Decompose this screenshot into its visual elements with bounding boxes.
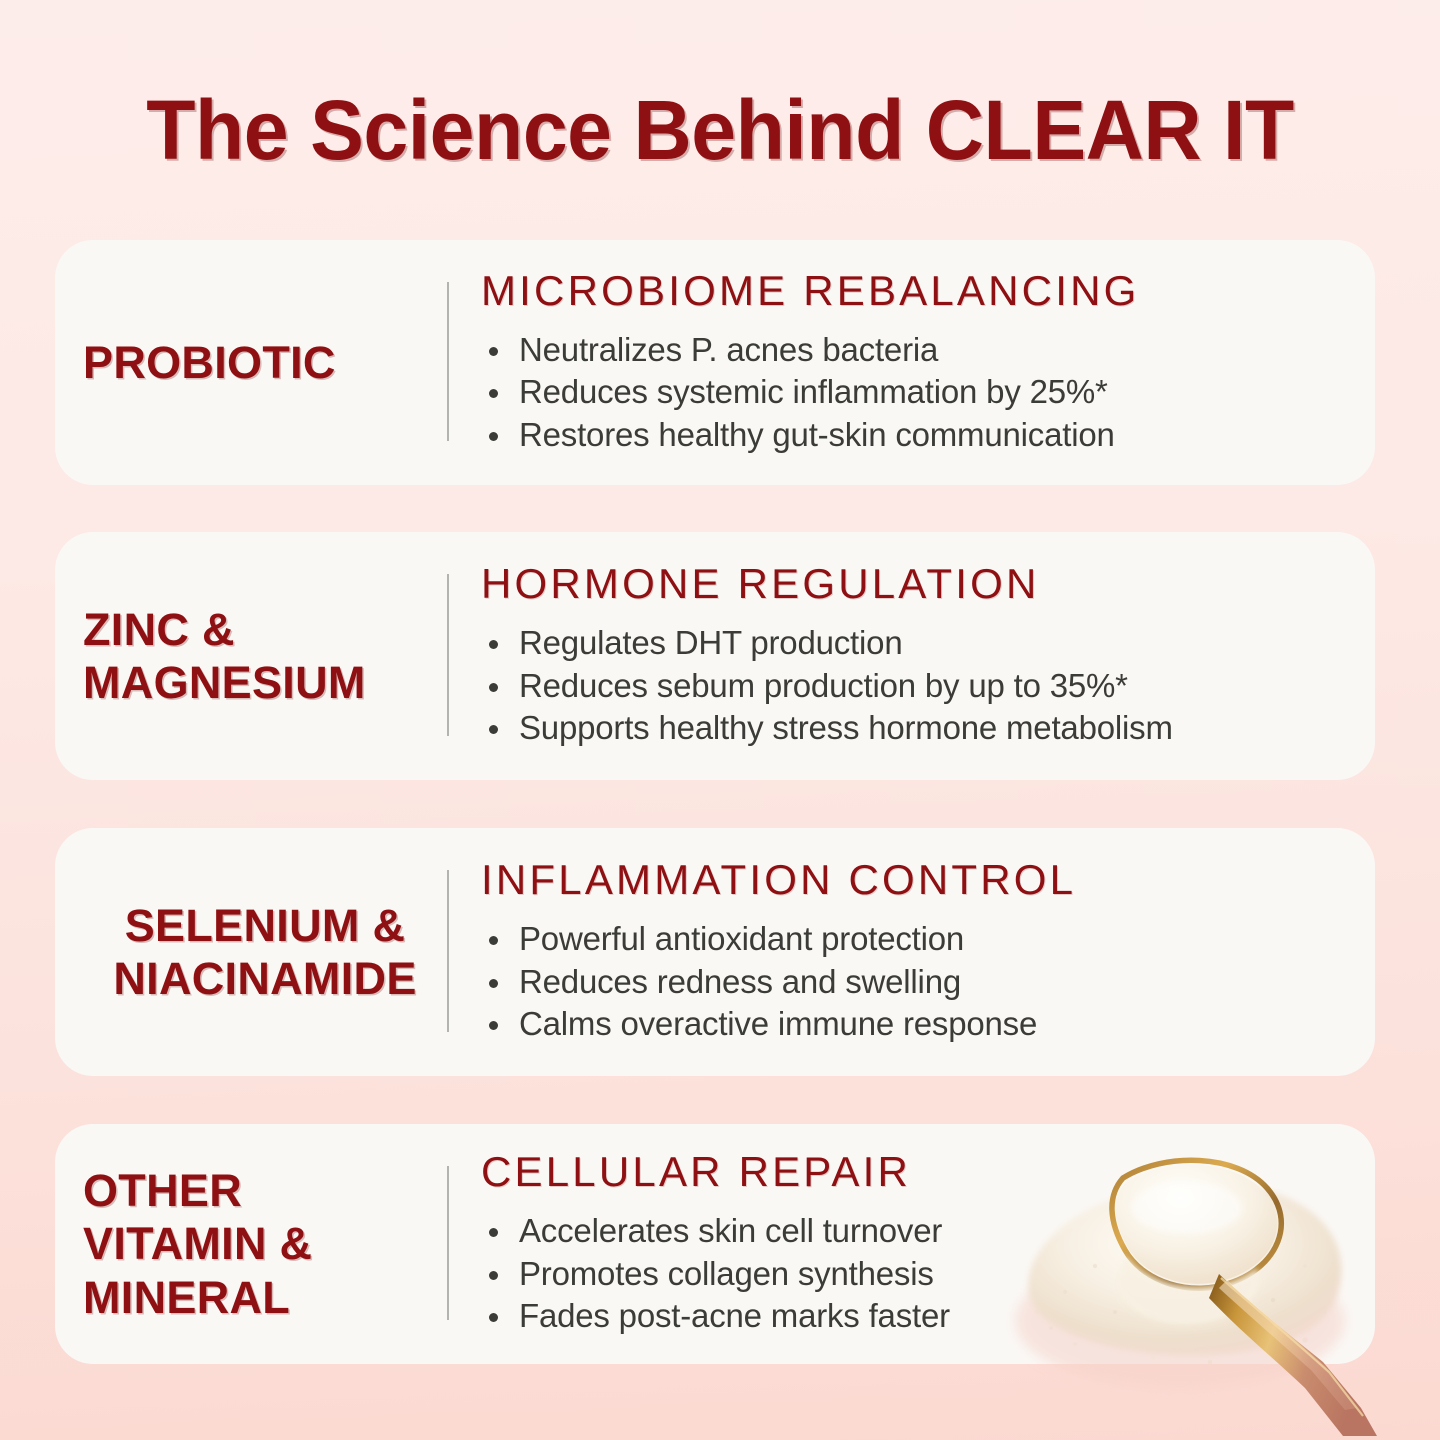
bullet-dot-icon: [489, 347, 498, 356]
benefit-list-item: Reduces systemic inflammation by 25%*: [481, 371, 1351, 414]
ingredient-card: OTHERVITAMIN &MINERAL CELLULAR REPAIR Ac…: [55, 1124, 1375, 1364]
ingredient-name-container: PROBIOTIC: [55, 336, 447, 389]
benefit-list-item: Restores healthy gut-skin communication: [481, 414, 1351, 457]
benefit-container: HORMONE REGULATION Regulates DHT product…: [449, 562, 1375, 750]
benefit-list: Neutralizes P. acnes bacteriaReduces sys…: [481, 329, 1351, 457]
benefit-list-item: Reduces redness and swelling: [481, 961, 1351, 1004]
benefit-list-item: Reduces sebum production by up to 35%*: [481, 665, 1351, 708]
benefit-container: MICROBIOME REBALANCING Neutralizes P. ac…: [449, 269, 1375, 457]
page-title: The Science Behind CLEAR IT: [86, 88, 1353, 172]
benefit-list-item: Powerful antioxidant protection: [481, 918, 1351, 961]
bullet-dot-icon: [489, 1271, 498, 1280]
benefit-list: Regulates DHT productionReduces sebum pr…: [481, 622, 1351, 750]
ingredient-card: ZINC &MAGNESIUM HORMONE REGULATION Regul…: [55, 532, 1375, 780]
benefit-list-item: Regulates DHT production: [481, 622, 1351, 665]
ingredient-card: SELENIUM &NIACINAMIDE INFLAMMATION CONTR…: [55, 828, 1375, 1076]
benefit-list-item: Supports healthy stress hormone metaboli…: [481, 707, 1351, 750]
ingredient-name-container: OTHERVITAMIN &MINERAL: [55, 1164, 447, 1323]
benefit-list-item: Promotes collagen synthesis: [481, 1253, 1351, 1296]
bullet-dot-icon: [489, 979, 498, 988]
benefit-heading: MICROBIOME REBALANCING: [481, 269, 1351, 313]
benefit-list-item: Calms overactive immune response: [481, 1003, 1351, 1046]
ingredient-name: PROBIOTIC: [83, 336, 447, 389]
benefit-container: INFLAMMATION CONTROL Powerful antioxidan…: [449, 858, 1375, 1046]
ingredient-name: OTHERVITAMIN &MINERAL: [83, 1164, 447, 1323]
bullet-dot-icon: [489, 389, 498, 398]
benefit-heading: INFLAMMATION CONTROL: [481, 858, 1351, 902]
benefit-list-item: Fades post-acne marks faster: [481, 1295, 1351, 1338]
ingredient-name-container: ZINC &MAGNESIUM: [55, 603, 447, 709]
infographic-poster: The Science Behind CLEAR IT PROBIOTIC MI…: [0, 0, 1440, 1440]
bullet-dot-icon: [489, 640, 498, 649]
bullet-dot-icon: [489, 725, 498, 734]
page-title-container: The Science Behind CLEAR IT: [0, 88, 1440, 172]
benefit-heading: CELLULAR REPAIR: [481, 1150, 1351, 1194]
ingredient-name-container: SELENIUM &NIACINAMIDE: [55, 899, 447, 1005]
benefit-list: Accelerates skin cell turnoverPromotes c…: [481, 1210, 1351, 1338]
bullet-dot-icon: [489, 432, 498, 441]
benefit-container: CELLULAR REPAIR Accelerates skin cell tu…: [449, 1150, 1375, 1338]
bullet-dot-icon: [489, 683, 498, 692]
bullet-dot-icon: [489, 1021, 498, 1030]
benefit-list-item: Accelerates skin cell turnover: [481, 1210, 1351, 1253]
bullet-dot-icon: [489, 1313, 498, 1322]
ingredient-name: SELENIUM &NIACINAMIDE: [83, 899, 447, 1005]
bullet-dot-icon: [489, 1228, 498, 1237]
ingredient-card: PROBIOTIC MICROBIOME REBALANCING Neutral…: [55, 240, 1375, 485]
ingredient-name: ZINC &MAGNESIUM: [83, 603, 447, 709]
bullet-dot-icon: [489, 936, 498, 945]
benefit-heading: HORMONE REGULATION: [481, 562, 1351, 606]
benefit-list-item: Neutralizes P. acnes bacteria: [481, 329, 1351, 372]
benefit-list: Powerful antioxidant protectionReduces r…: [481, 918, 1351, 1046]
